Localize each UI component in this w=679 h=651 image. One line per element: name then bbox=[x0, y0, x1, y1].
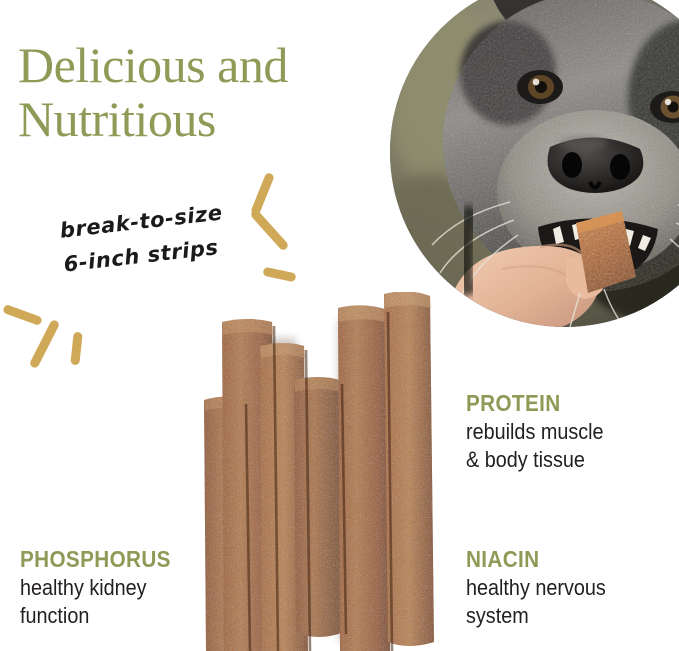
benefit-phosphorus: PHOSPHORUS healthy kidney function bbox=[20, 546, 188, 630]
product-feature-graphic: Delicious and Nutritious break-to-size 6… bbox=[0, 0, 679, 651]
treat-strips-image bbox=[198, 292, 438, 651]
gold-dash-3 bbox=[262, 267, 296, 283]
benefit-niacin-body: healthy nervous system bbox=[466, 574, 606, 630]
benefit-protein-title: PROTEIN bbox=[466, 390, 604, 416]
handwritten-note: break-to-size 6-inch strips bbox=[58, 195, 228, 281]
gold-dash-6 bbox=[70, 332, 82, 366]
gold-dash-5 bbox=[29, 319, 61, 369]
gold-dash-2 bbox=[249, 208, 289, 251]
benefit-niacin-title: NIACIN bbox=[466, 546, 606, 572]
benefit-phosphorus-body: healthy kidney function bbox=[20, 574, 171, 630]
dog-photo bbox=[390, 0, 679, 327]
benefit-protein: PROTEIN rebuilds muscle & body tissue bbox=[466, 390, 619, 474]
page-title: Delicious and Nutritious bbox=[18, 38, 418, 146]
benefit-protein-body: rebuilds muscle & body tissue bbox=[466, 418, 604, 474]
benefit-phosphorus-title: PHOSPHORUS bbox=[20, 546, 171, 572]
benefit-niacin: NIACIN healthy nervous system bbox=[466, 546, 621, 630]
gold-dash-4 bbox=[2, 304, 43, 326]
